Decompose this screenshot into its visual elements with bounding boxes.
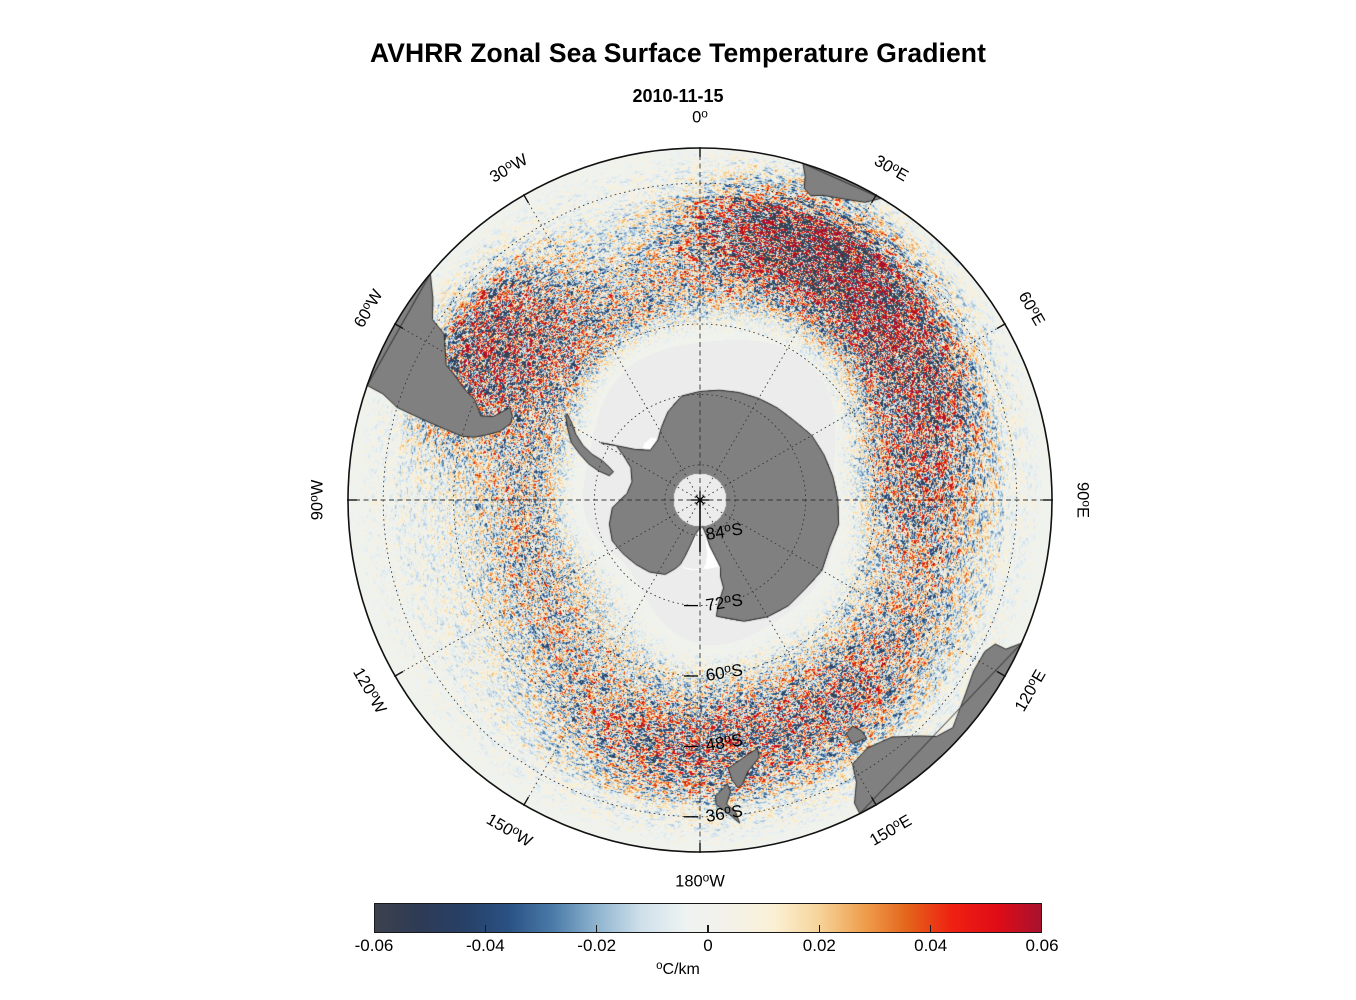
colorbar-tick-label: 0: [703, 936, 712, 956]
meridian-tick: [524, 797, 529, 806]
longitude-label-e0: 0o: [692, 109, 708, 128]
colorbar-tick: [819, 925, 821, 933]
longitude-label-w90: 90oW: [309, 480, 328, 521]
colorbar-unit-label: oC/km: [0, 961, 1356, 979]
meridian-tick: [872, 194, 877, 203]
meridian-tick: [394, 324, 403, 329]
polar-map[interactable]: [348, 148, 1052, 852]
figure-root: AVHRR Zonal Sea Surface Temperature Grad…: [0, 0, 1356, 1000]
graticule-meridian: [395, 324, 700, 500]
colorbar-tick-label: -0.04: [466, 936, 505, 956]
colorbar-tick-label: 0.04: [914, 936, 947, 956]
meridian-tick: [872, 797, 877, 806]
graticule-meridian: [524, 500, 700, 805]
colorbar-tick: [707, 925, 709, 933]
colorbar-tick-label: -0.06: [355, 936, 394, 956]
longitude-label-e90: 90oE: [1073, 482, 1092, 518]
meridian-tick: [524, 194, 529, 203]
meridian-tick: [997, 672, 1006, 677]
map-graticule-overlay: [348, 148, 1052, 852]
page-title: AVHRR Zonal Sea Surface Temperature Grad…: [0, 38, 1356, 69]
longitude-label-e180: 180oW: [675, 873, 725, 892]
colorbar-ticks: [374, 903, 1042, 933]
graticule-meridian: [395, 500, 700, 676]
colorbar-tick: [596, 925, 598, 933]
graticule-meridian: [524, 195, 700, 500]
page-subtitle-date: 2010-11-15: [0, 86, 1356, 107]
meridian-tick: [394, 672, 403, 677]
colorbar[interactable]: [374, 903, 1042, 933]
colorbar-tick-label: 0.06: [1025, 936, 1058, 956]
meridian-tick: [997, 324, 1006, 329]
graticule-meridian: [700, 500, 876, 805]
graticule-meridian: [700, 195, 876, 500]
colorbar-tick-label: -0.02: [577, 936, 616, 956]
colorbar-tick: [930, 925, 932, 933]
colorbar-tick-label: 0.02: [803, 936, 836, 956]
colorbar-tick: [485, 925, 487, 933]
colorbar-tick-labels: -0.06-0.04-0.0200.020.040.06: [374, 936, 1042, 958]
